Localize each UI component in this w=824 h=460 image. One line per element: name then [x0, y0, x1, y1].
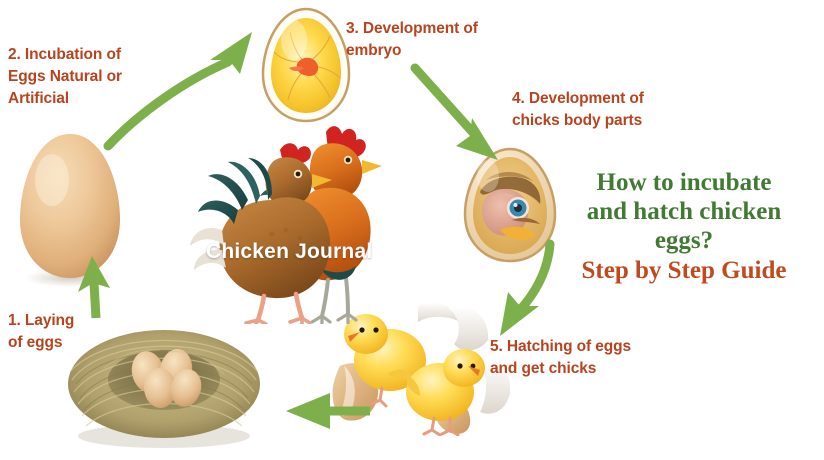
- title-question: How to incubate and hatch chicken eggs?: [548, 168, 820, 255]
- arrow-embryo-to-chick-icon: [415, 68, 498, 160]
- watermark-chicken-journal: Chicken Journal: [206, 240, 372, 264]
- step-5-label: 5. Hatching of eggs and get chicks: [490, 336, 680, 380]
- title-block: How to incubate and hatch chicken eggs? …: [548, 168, 820, 285]
- step-4-label: 4. Development of chicks body parts: [512, 88, 692, 132]
- infographic-canvas: 2. Incubation of Eggs Natural or Artific…: [0, 0, 824, 460]
- arrow-chick-to-hatch-icon: [500, 244, 550, 336]
- arrow-hatch-to-nest-icon: [286, 393, 370, 429]
- step-3-label: 3. Development of embryo: [346, 18, 526, 62]
- title-subtitle: Step by Step Guide: [548, 256, 820, 285]
- step-1-label: 1. Laying of eggs: [8, 310, 118, 354]
- arrow-nest-to-egg-icon: [78, 256, 110, 318]
- step-2-label: 2. Incubation of Eggs Natural or Artific…: [8, 44, 168, 110]
